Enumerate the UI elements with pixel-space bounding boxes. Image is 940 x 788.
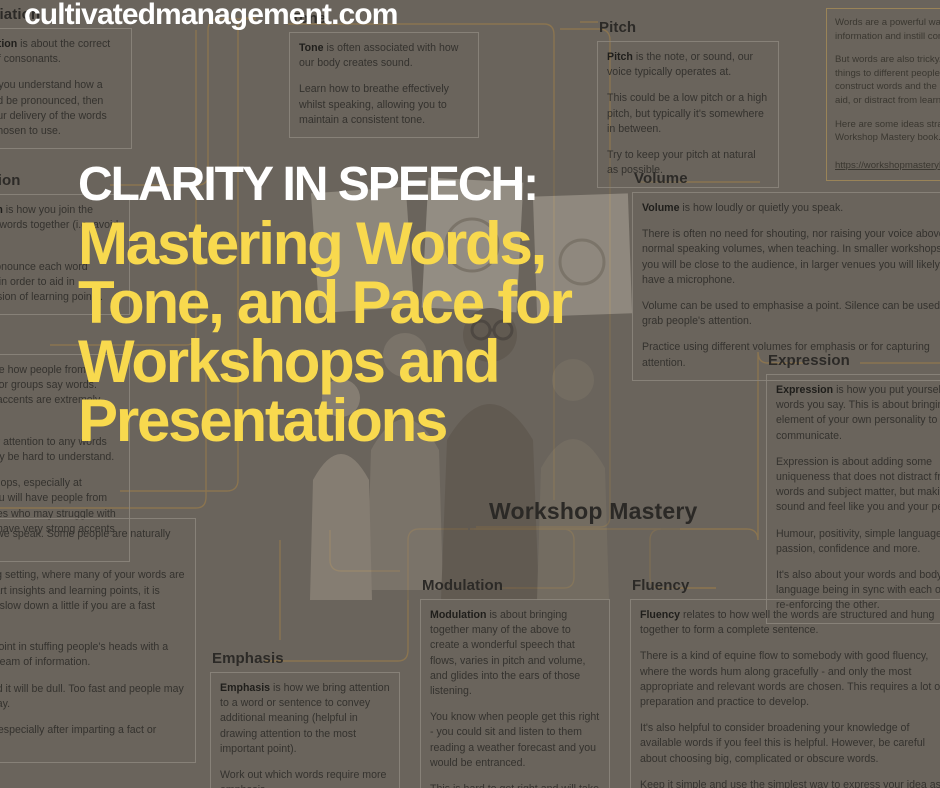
node-modulation[interactable]: Modulation Modulation is about bringing …	[420, 577, 610, 788]
site-brand: cultivatedmanagement.com	[24, 0, 398, 32]
paragraph: This is hard to get right and will take …	[430, 782, 600, 788]
paragraph: Expression is about adding some uniquene…	[776, 455, 940, 516]
paragraph: Fluency relates to how well the words ar…	[640, 608, 940, 638]
node-body-modulation: Modulation is about bringing together ma…	[420, 599, 610, 788]
headline-kicker: CLARITY IN SPEECH:	[78, 160, 718, 210]
paragraph: Learn how to breathe effectively whilst …	[299, 82, 469, 128]
node-fluency[interactable]: Fluency Fluency relates to how well the …	[630, 577, 940, 788]
paragraph: This could be a low pitch or a high pitc…	[607, 91, 769, 137]
node-pace[interactable]: Pace Pace is about how fast we speak. So…	[0, 496, 196, 763]
headline-line-3: Workshops and	[78, 332, 718, 391]
node-body-emphasis: Emphasis is how we bring attention to a …	[210, 672, 400, 788]
node-title-emphasis: Emphasis	[212, 650, 400, 667]
node-title-modulation: Modulation	[422, 577, 610, 594]
paragraph: Emphasis is how we bring attention to a …	[220, 681, 390, 757]
node-title-pitch: Pitch	[599, 19, 779, 36]
intro-panel[interactable]: Words are a powerful way to explain info…	[826, 8, 940, 181]
headline-line-2: Tone, and Pace for	[78, 273, 718, 332]
node-body-fluency: Fluency relates to how well the words ar…	[630, 599, 940, 788]
paragraph: However, there is little point in stuffi…	[0, 640, 186, 670]
headline-line-1: Mastering Words,	[78, 214, 718, 273]
paragraph: Pauses are also good - especially after …	[0, 723, 186, 753]
paragraph: There is a kind of equine flow to somebo…	[640, 649, 940, 710]
paragraph: Tone is often associated with how our bo…	[299, 41, 469, 71]
paragraph: Pitch is the note, or sound, our voice t…	[607, 50, 769, 80]
paragraph: It's also helpful to consider broadening…	[640, 721, 940, 767]
paragraph: Humour, positivity, simple language, pow…	[776, 527, 940, 557]
paragraph: Pace is about how fast we speak. Some pe…	[0, 527, 186, 557]
node-emphasis[interactable]: Emphasis Emphasis is how we bring attent…	[210, 650, 400, 788]
paragraph: Keep it simple and use the simplest way …	[640, 778, 940, 788]
node-title-expression: Expression	[768, 352, 940, 369]
intro-panel-body: Words are a powerful way to explain info…	[826, 8, 940, 181]
node-body-tone: Tone is often associated with how our bo…	[289, 32, 479, 138]
workshop-mastery-book-link[interactable]: https://workshopmasterybook.com	[835, 160, 940, 171]
paragraph: But words are also tricky. They mean dif…	[835, 53, 940, 107]
node-body-pace: Pace is about how fast we speak. Some pe…	[0, 518, 196, 763]
paragraph: Too slow and people find it will be dull…	[0, 682, 186, 712]
node-body-pronunciation: Pronunciation is about the correct sound…	[0, 28, 132, 149]
headline-line-4: Presentations	[78, 391, 718, 450]
headline-block: CLARITY IN SPEECH: Mastering Words, Tone…	[78, 160, 718, 450]
paragraph: Pronunciation is about the correct sound…	[0, 37, 122, 67]
node-title-fluency: Fluency	[632, 577, 940, 594]
paragraph: Make sure you understand how a word shou…	[0, 78, 122, 139]
node-title-pace: Pace	[0, 496, 196, 513]
paragraph: You know when people get this right - yo…	[430, 710, 600, 771]
paragraph: Expression is how you put yourself into …	[776, 383, 940, 444]
mindmap-hub-label: Workshop Mastery	[489, 498, 698, 525]
headline-main: Mastering Words, Tone, and Pace for Work…	[78, 214, 718, 450]
paragraph: Here are some ideas straight from the Wo…	[835, 118, 940, 145]
paragraph: Modulation is about bringing together ma…	[430, 608, 600, 699]
paragraph: Work out which words require more emphas…	[220, 768, 390, 788]
blog-feature-image: Pronunciation Pronunciation is about the…	[0, 0, 940, 788]
paragraph: Words are a powerful way to explain info…	[835, 16, 940, 43]
paragraph: In a workshop or training setting, where…	[0, 568, 186, 629]
